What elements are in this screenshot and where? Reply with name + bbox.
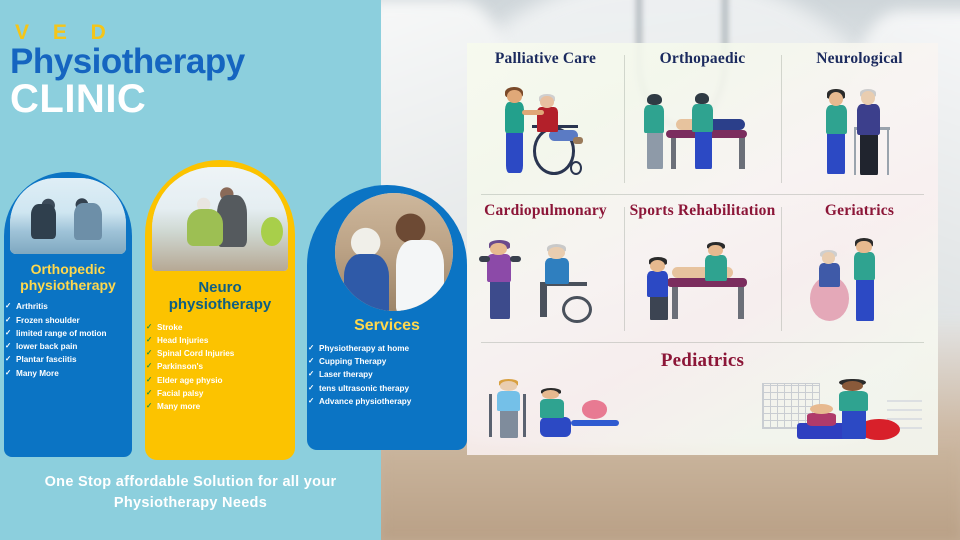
geriatrics-illustration [781,220,938,343]
poster-canvas: V E D Physiotherapy CLINIC Orthopedic ph… [0,0,960,540]
left-panel: V E D Physiotherapy CLINIC Orthopedic ph… [0,0,381,540]
specialties-row-top: Palliative Care Orthopaedic [467,43,938,195]
list-item: Plantar fasciitis [4,353,132,366]
list-item: Many more [145,400,295,413]
specialty-orthopaedic[interactable]: Orthopaedic [624,43,781,195]
card-orthopedic-title-line2: physiotherapy [4,278,132,294]
specialty-label: Pediatrics [661,350,744,372]
specialties-row-middle: Cardiopulmonary Sports Rehabilitation [467,195,938,343]
brand-name: Physiotherapy [10,44,370,81]
list-item: Frozen shoulder [4,314,132,327]
specialty-label: Orthopaedic [660,50,746,68]
list-item: tens ultrasonic therapy [307,382,467,395]
specialty-palliative-care[interactable]: Palliative Care [467,43,624,195]
specialty-label: Geriatrics [825,202,894,220]
floor-backdrop [381,448,960,540]
list-item: Facial palsy [145,387,295,400]
card-neuro-title-line2: physiotherapy [145,297,295,314]
right-panel: Palliative Care Orthopaedic [381,0,960,540]
card-services[interactable]: Services Physiotherapy at home Cupping T… [307,185,467,450]
specialty-sports-rehabilitation[interactable]: Sports Rehabilitation [624,195,781,343]
card-neuro-list: Stroke Head Injuries Spinal Cord Injurie… [145,321,295,414]
floor-exercise-photo [152,167,288,271]
neurological-illustration [781,68,938,195]
list-item: limited range of motion [4,327,132,340]
tagline: One Stop affordable Solution for all you… [0,472,381,514]
list-item: Physiotherapy at home [307,342,467,355]
orthopaedic-illustration [624,68,781,195]
specialty-geriatrics[interactable]: Geriatrics [781,195,938,343]
list-item: Elder age physio [145,374,295,387]
card-neuro[interactable]: Neuro physiotherapy Stroke Head Injuries… [145,160,295,460]
card-orthopedic-photo [10,178,126,254]
list-item: Many More [4,367,132,380]
specialty-neurological[interactable]: Neurological [781,43,938,195]
card-services-photo [335,193,453,311]
palliative-care-illustration [467,68,624,195]
specialty-cardiopulmonary[interactable]: Cardiopulmonary [467,195,624,343]
card-services-list: Physiotherapy at home Cupping Therapy La… [307,342,467,408]
service-cards: Orthopedic physiotherapy Arthritis Froze… [0,160,381,460]
exercise-ball-icon [261,217,283,246]
list-item: Arthritis [4,300,132,313]
list-item: Head Injuries [145,334,295,347]
list-item: Spinal Cord Injuries [145,347,295,360]
home-care-photo [335,193,453,311]
card-orthopedic-title: Orthopedic physiotherapy [4,262,132,293]
card-orthopedic[interactable]: Orthopedic physiotherapy Arthritis Froze… [4,172,132,457]
list-item: lower back pain [4,340,132,353]
pediatrics-illustration [467,372,938,455]
card-orthopedic-title-line1: Orthopedic [4,262,132,278]
brand-prefix: V E D [15,22,370,43]
card-services-title: Services [307,317,467,335]
card-neuro-title-line1: Neuro [145,280,295,297]
specialty-pediatrics[interactable]: Pediatrics [467,343,938,455]
brand-block: V E D Physiotherapy CLINIC [10,22,370,119]
card-neuro-photo [152,167,288,271]
specialty-label: Palliative Care [495,50,596,68]
sports-rehabilitation-illustration [624,220,781,343]
specialty-label: Neurological [816,50,903,68]
list-item: Laser therapy [307,368,467,381]
card-orthopedic-list: Arthritis Frozen shoulder limited range … [4,300,132,380]
specialty-label: Cardiopulmonary [484,202,607,220]
list-item: Cupping Therapy [307,355,467,368]
list-item: Parkinson's [145,360,295,373]
specialty-label: Sports Rehabilitation [630,202,776,220]
cardiopulmonary-illustration [467,220,624,343]
specialties-grid: Palliative Care Orthopaedic [467,43,938,455]
specialties-row-bottom: Pediatrics [467,343,938,455]
list-item: Advance physiotherapy [307,395,467,408]
card-neuro-title: Neuro physiotherapy [145,280,295,314]
list-item: Stroke [145,321,295,334]
gym-therapy-photo [10,178,126,254]
brand-type: CLINIC [10,79,370,119]
